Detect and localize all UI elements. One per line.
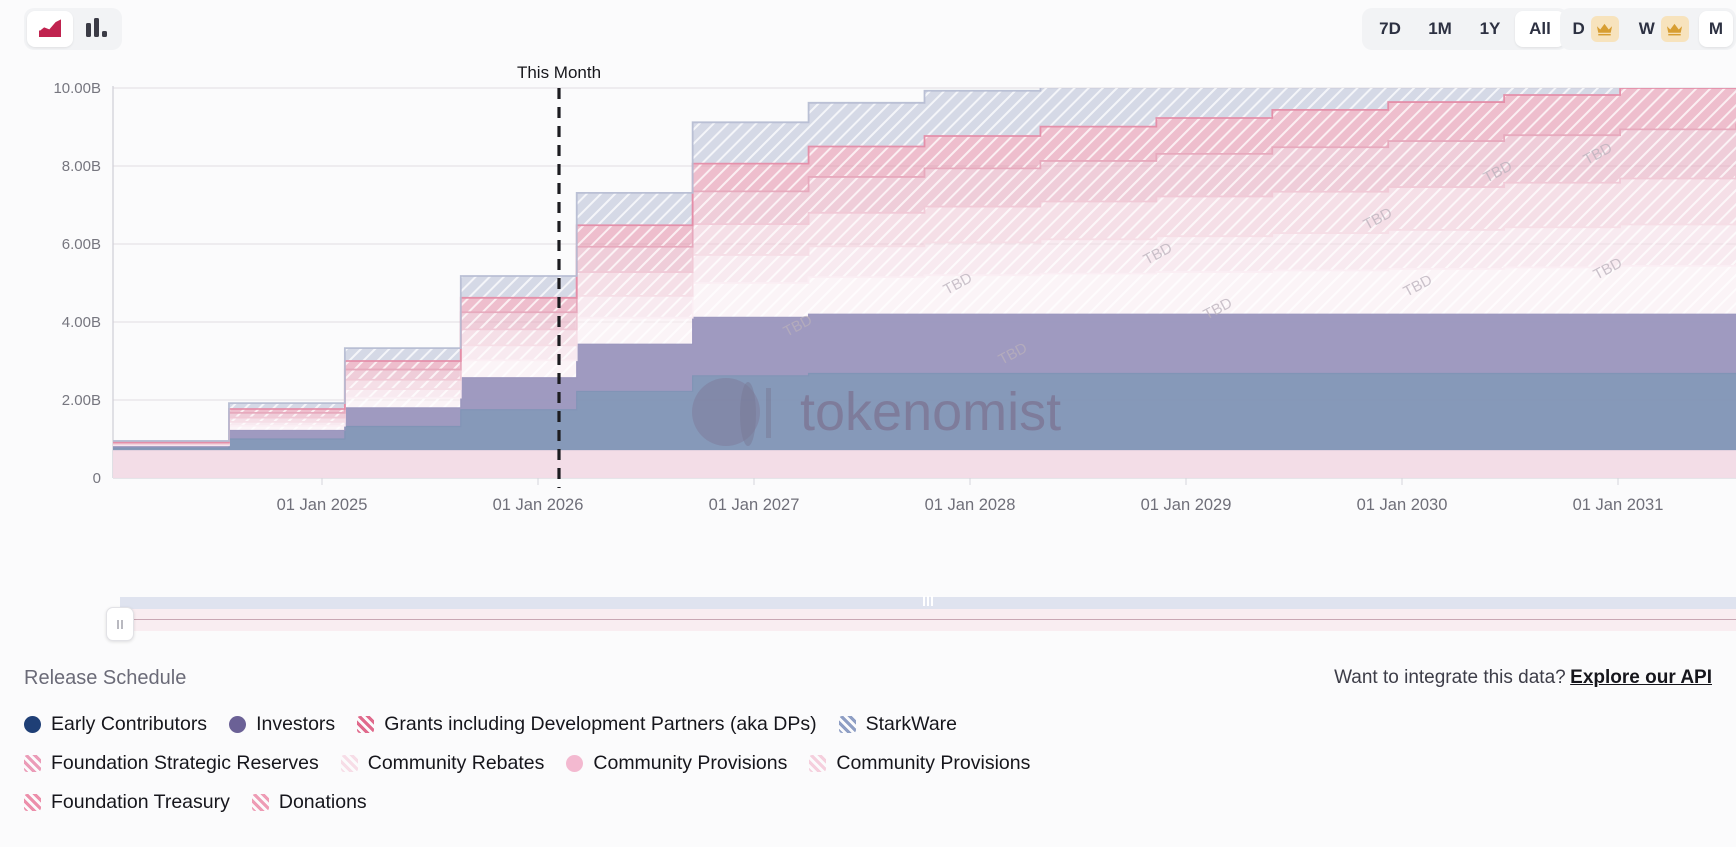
x-axis-tick-label: 01 Jan 2025 — [277, 496, 368, 514]
y-axis-tick-label: 0 — [93, 470, 101, 487]
interval-label-monthly: M — [1709, 19, 1723, 39]
x-axis-tick-label: 01 Jan 2030 — [1357, 496, 1448, 514]
chart-footer: Release Schedule Want to integrate this … — [0, 655, 1736, 822]
legend-dot-swatch — [566, 755, 583, 772]
legend-item-label: Donations — [279, 791, 367, 814]
bar-chart-icon — [84, 17, 108, 42]
legend-hatch-swatch — [252, 794, 269, 811]
legend-item-label: Community Provisions — [593, 752, 787, 775]
api-prompt-text: Want to integrate this data? — [1334, 667, 1566, 688]
range-button-1m[interactable]: 1M — [1415, 11, 1465, 47]
legend-row: Foundation Strategic ReservesCommunity R… — [24, 744, 1712, 783]
legend-item[interactable]: Community Provisions — [566, 752, 787, 775]
range-button-1y[interactable]: 1Y — [1465, 11, 1515, 47]
range-button-7d[interactable]: 7D — [1365, 11, 1415, 47]
legend-item[interactable]: Community Provisions — [809, 752, 1030, 775]
x-axis-tick-label: 01 Jan 2027 — [709, 496, 800, 514]
x-axis-tick-label: 01 Jan 2029 — [1141, 496, 1232, 514]
y-axis-tick-label: 10.00B — [53, 80, 101, 97]
chart-range-slider[interactable] — [120, 595, 1736, 631]
tokenomics-release-schedule-page: 7D 1M 1Y All D W — [0, 0, 1736, 847]
release-schedule-chart[interactable]: 10.00B8.00B6.00B4.00B2.00B0TBDTBDTBDTBDT… — [0, 58, 1736, 538]
range-slider-grip[interactable] — [923, 596, 933, 606]
legend-hatch-swatch — [839, 716, 856, 733]
legend-item-label: Early Contributors — [51, 713, 207, 736]
interval-group: D W M — [1560, 8, 1736, 50]
legend-item[interactable]: Foundation Strategic Reserves — [24, 752, 319, 775]
legend-item-label: StarkWare — [866, 713, 957, 736]
range-slider-baseline — [120, 619, 1736, 620]
chart-series-area — [113, 451, 1736, 478]
legend-item[interactable]: Investors — [229, 713, 335, 736]
legend-dot-swatch — [229, 716, 246, 733]
explore-api-link[interactable]: Explore our API — [1570, 667, 1712, 688]
x-axis-tick-label: 01 Jan 2031 — [1573, 496, 1664, 514]
legend-hatch-swatch — [24, 755, 41, 772]
range-slider-track-lower[interactable] — [120, 609, 1736, 631]
interval-button-weekly[interactable]: W — [1629, 11, 1699, 47]
area-chart-icon — [38, 17, 62, 42]
y-axis-tick-label: 4.00B — [62, 314, 101, 331]
interval-button-daily[interactable]: D — [1563, 11, 1629, 47]
chart-legend: Early ContributorsInvestorsGrants includ… — [0, 701, 1736, 822]
api-prompt-group: Want to integrate this data? Explore our… — [1334, 667, 1712, 689]
svg-text:tokenomist: tokenomist — [800, 382, 1061, 442]
interval-label-daily: D — [1573, 19, 1585, 39]
this-month-marker-label: This Month — [517, 63, 601, 82]
area-chart-type-button[interactable] — [27, 11, 73, 47]
legend-item-label: Foundation Treasury — [51, 791, 230, 814]
crown-icon-daily — [1591, 16, 1619, 42]
range-slider-handle-left[interactable] — [106, 607, 134, 641]
time-range-group: 7D 1M 1Y All — [1362, 8, 1568, 50]
x-axis-tick-label: 01 Jan 2026 — [493, 496, 584, 514]
legend-row: Early ContributorsInvestorsGrants includ… — [24, 705, 1712, 744]
legend-hatch-swatch — [809, 755, 826, 772]
release-schedule-title: Release Schedule — [24, 667, 186, 690]
legend-hatch-swatch — [341, 755, 358, 772]
legend-hatch-swatch — [357, 716, 374, 733]
range-button-all[interactable]: All — [1515, 11, 1565, 47]
bar-chart-type-button[interactable] — [73, 11, 119, 47]
y-axis-tick-label: 6.00B — [62, 236, 101, 253]
chart-type-toggle-group — [24, 8, 122, 50]
legend-hatch-swatch — [24, 794, 41, 811]
footer-header-row: Release Schedule Want to integrate this … — [0, 655, 1736, 701]
y-axis-tick-label: 8.00B — [62, 158, 101, 175]
legend-item-label: Community Provisions — [836, 752, 1030, 775]
y-axis-tick-label: 2.00B — [62, 392, 101, 409]
interval-label-weekly: W — [1639, 19, 1655, 39]
legend-item[interactable]: Foundation Treasury — [24, 791, 230, 814]
x-axis-tick-label: 01 Jan 2028 — [925, 496, 1016, 514]
legend-item[interactable]: Early Contributors — [24, 713, 207, 736]
legend-item-label: Community Rebates — [368, 752, 545, 775]
legend-item[interactable]: Donations — [252, 791, 367, 814]
legend-item-label: Foundation Strategic Reserves — [51, 752, 319, 775]
legend-item[interactable]: StarkWare — [839, 713, 957, 736]
legend-dot-swatch — [24, 716, 41, 733]
chart-canvas[interactable]: 10.00B8.00B6.00B4.00B2.00B0TBDTBDTBDTBDT… — [0, 58, 1736, 538]
crown-icon-weekly — [1661, 16, 1689, 42]
legend-item-label: Grants including Development Partners (a… — [384, 713, 816, 736]
legend-item[interactable]: Community Rebates — [341, 752, 545, 775]
legend-item[interactable]: Grants including Development Partners (a… — [357, 713, 816, 736]
interval-button-monthly[interactable]: M — [1699, 11, 1733, 47]
tokenomist-watermark: tokenomist — [692, 378, 1061, 446]
legend-item-label: Investors — [256, 713, 335, 736]
chart-toolbar: 7D 1M 1Y All D W — [0, 0, 1736, 58]
legend-row: Foundation TreasuryDonations — [24, 783, 1712, 822]
